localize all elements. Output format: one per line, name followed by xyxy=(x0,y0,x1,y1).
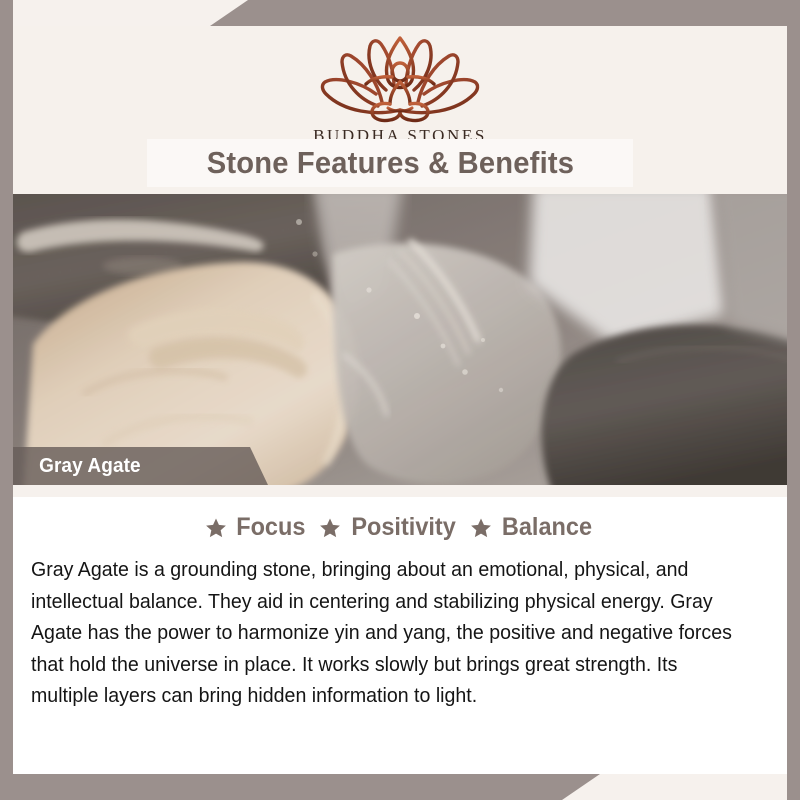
frame-band-bottom xyxy=(0,774,600,800)
stone-name: Gray Agate xyxy=(16,455,140,478)
feature-item-positivity: Positivity xyxy=(319,513,459,542)
stone-photo xyxy=(13,194,787,485)
description-text: Gray Agate is a grounding stone, bringin… xyxy=(31,554,742,712)
frame-band-left xyxy=(0,0,13,800)
star-icon xyxy=(205,517,227,539)
content-panel: Focus Positivity Balance Gray A xyxy=(13,485,787,774)
feature-list: Focus Positivity Balance xyxy=(13,513,787,542)
star-icon xyxy=(319,517,341,539)
brand-logo: BUDDHA STONES xyxy=(13,32,787,146)
page-title: Stone Features & Benefits xyxy=(206,145,573,181)
feature-item-balance: Balance xyxy=(470,513,595,542)
frame-band-top xyxy=(210,0,800,26)
feature-item-focus: Focus xyxy=(205,513,308,542)
panel-top-strip xyxy=(13,485,787,497)
feature-label: Balance xyxy=(502,513,592,542)
stone-photo-image xyxy=(13,194,787,485)
star-icon xyxy=(470,517,492,539)
title-banner: Stone Features & Benefits xyxy=(147,139,633,187)
lotus-meditation-logo-icon xyxy=(316,32,484,124)
stone-name-banner: Gray Agate xyxy=(13,447,268,485)
frame-band-right xyxy=(787,0,800,800)
feature-label: Positivity xyxy=(351,513,455,542)
stone-info-card: BUDDHA STONES Stone Features & Benefits xyxy=(0,0,800,800)
feature-label: Focus xyxy=(236,513,305,542)
